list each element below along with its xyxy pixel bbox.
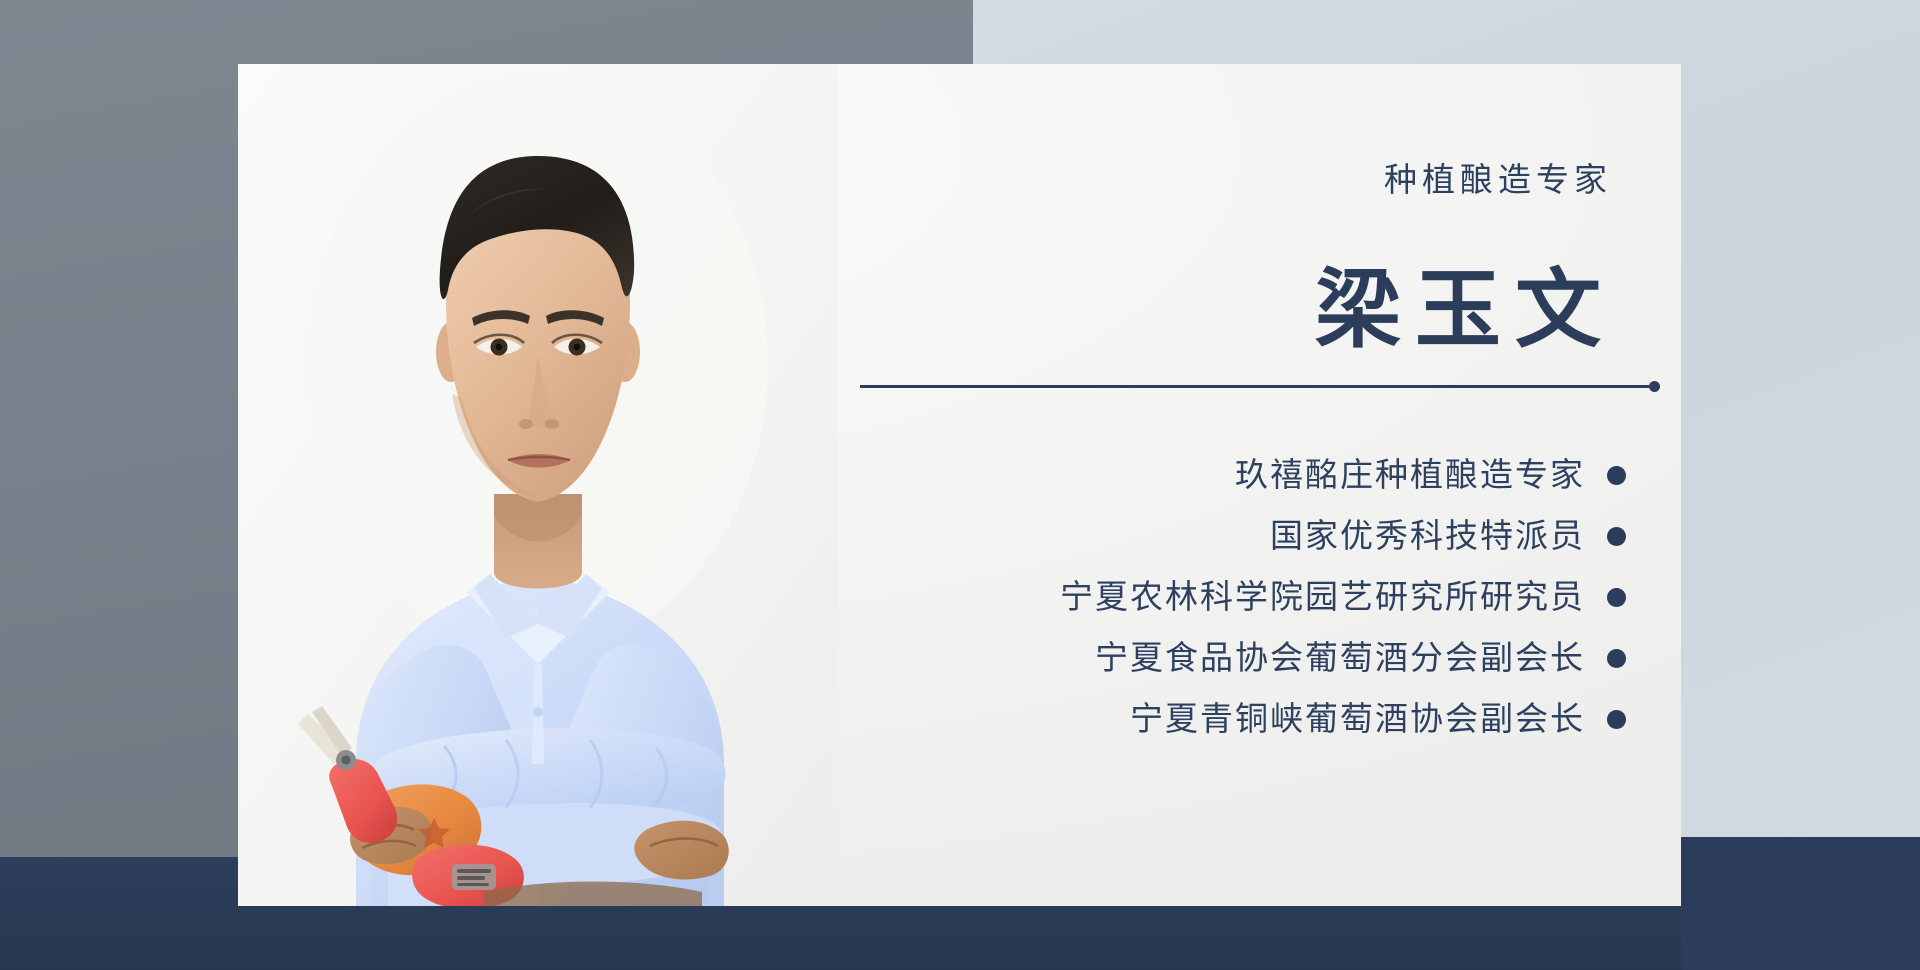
- bullet-dot-icon: [1607, 588, 1626, 607]
- credential-text: 宁夏农林科学院园艺研究所研究员: [1058, 576, 1585, 618]
- profile-name: 梁玉文: [1301, 258, 1615, 362]
- credential-text: 宁夏青铜峡葡萄酒协会副会长: [1128, 698, 1585, 740]
- background-navy-right-block: [1681, 837, 1920, 970]
- bullet-dot-icon: [1607, 527, 1626, 546]
- credentials-list: 玖禧酩庄种植酿造专家 国家优秀科技特派员 宁夏农林科学院园艺研究所研究员 宁夏食…: [866, 454, 1626, 740]
- bullet-dot-icon: [1607, 466, 1626, 485]
- bullet-dot-icon: [1607, 649, 1626, 668]
- list-item: 宁夏农林科学院园艺研究所研究员: [1058, 576, 1626, 618]
- list-item: 国家优秀科技特派员: [1268, 515, 1626, 557]
- list-item: 玖禧酩庄种植酿造专家: [1233, 454, 1626, 496]
- credential-text: 宁夏食品协会葡萄酒分会副会长: [1093, 637, 1585, 679]
- portrait-illustration: [238, 64, 838, 906]
- credential-text: 玖禧酩庄种植酿造专家: [1233, 454, 1585, 496]
- profile-card: 种植酿造专家 梁玉文 玖禧酩庄种植酿造专家 国家优秀科技特派员 宁夏农林科学院园…: [238, 64, 1681, 906]
- profile-banner: 种植酿造专家 梁玉文 玖禧酩庄种植酿造专家 国家优秀科技特派员 宁夏农林科学院园…: [0, 0, 1920, 970]
- profile-text-column: 种植酿造专家 梁玉文 玖禧酩庄种植酿造专家 国家优秀科技特派员 宁夏农林科学院园…: [838, 64, 1681, 906]
- profile-subtitle: 种植酿造专家: [1379, 160, 1612, 200]
- credential-text: 国家优秀科技特派员: [1268, 515, 1585, 557]
- bullet-dot-icon: [1607, 710, 1626, 729]
- divider-end-dot: [1649, 381, 1660, 392]
- list-item: 宁夏青铜峡葡萄酒协会副会长: [1128, 698, 1626, 740]
- list-item: 宁夏食品协会葡萄酒分会副会长: [1093, 637, 1626, 679]
- header-divider: [860, 381, 1660, 393]
- divider-line: [860, 385, 1649, 388]
- portrait-photo: [238, 64, 838, 906]
